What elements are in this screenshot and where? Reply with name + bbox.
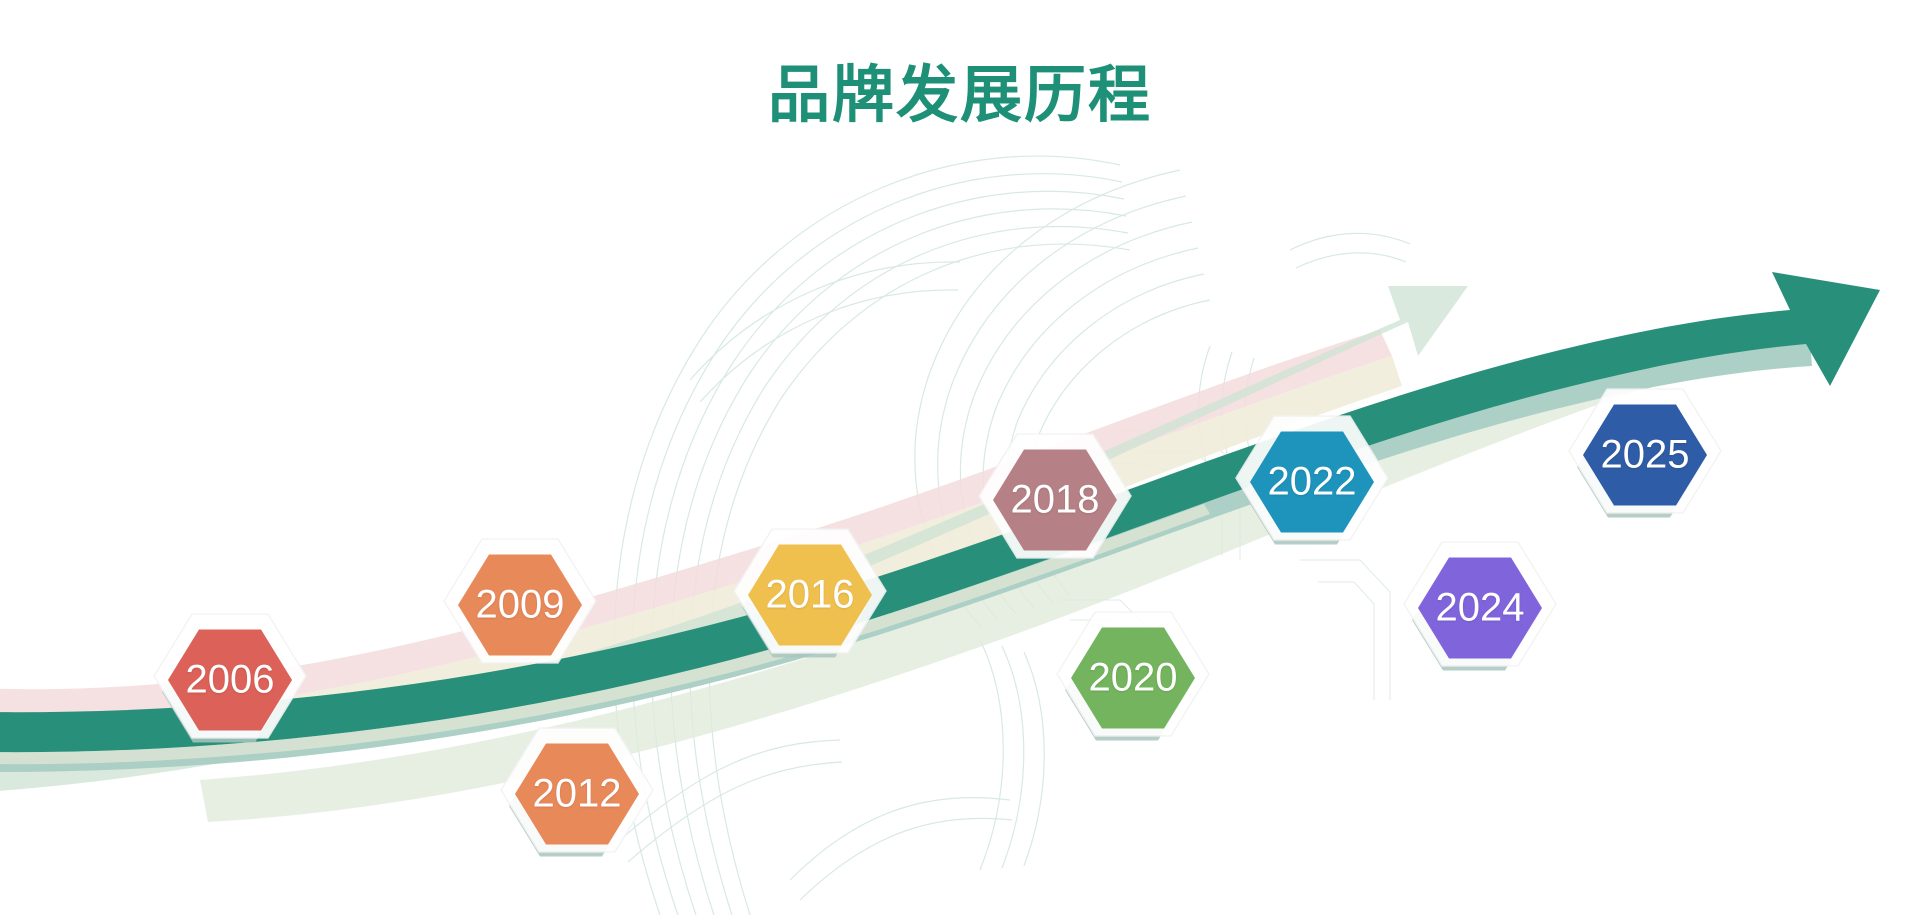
- milestone-hexagon-2006[interactable]: [154, 614, 306, 742]
- milestone-hexagon-2020[interactable]: [1057, 612, 1209, 740]
- milestone-hexagon-2024[interactable]: [1404, 542, 1556, 670]
- milestone-hexagon-2009[interactable]: [444, 539, 596, 663]
- infographic-canvas: 品牌发展历程 200620092012201620182020202220242…: [0, 0, 1920, 915]
- milestone-hexagon-2022[interactable]: [1236, 416, 1388, 544]
- milestone-hexagon-2016[interactable]: [734, 529, 886, 657]
- milestone-hexagon-2012[interactable]: [501, 728, 653, 856]
- milestone-hexagon-2018[interactable]: [979, 434, 1131, 558]
- milestone-hexagon-layer: [0, 0, 1920, 915]
- milestone-hexagon-2025[interactable]: [1569, 389, 1721, 517]
